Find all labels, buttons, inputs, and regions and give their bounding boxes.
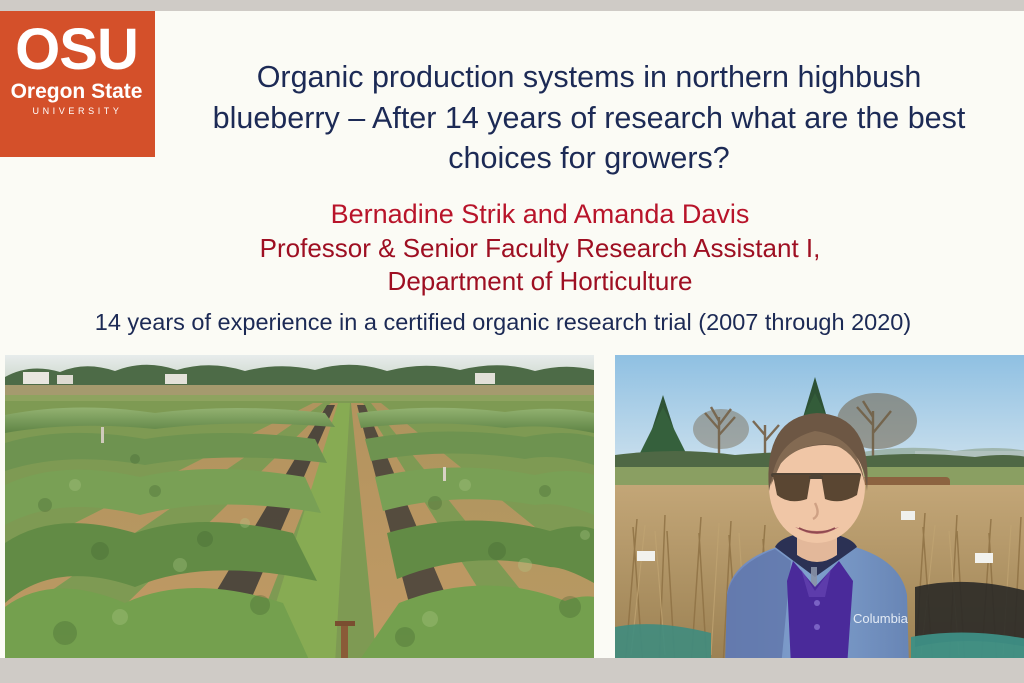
page-title: Organic production systems in northern h… — [160, 57, 1018, 179]
title-line-2: blueberry – After 14 years of research w… — [160, 98, 1018, 139]
author-names: Bernadine Strik and Amanda Davis — [110, 197, 970, 232]
osu-logo: OSU Oregon State UNIVERSITY — [0, 11, 155, 157]
photo-researcher: Columbia — [615, 355, 1024, 658]
osu-logo-sub: UNIVERSITY — [0, 106, 155, 116]
authors-block: Bernadine Strik and Amanda Davis Profess… — [110, 197, 970, 298]
title-line-1: Organic production systems in northern h… — [160, 57, 1018, 98]
viewer-bottom-band — [0, 658, 1024, 683]
affiliation-line-2: Department of Horticulture — [110, 265, 970, 298]
affiliation-line-1: Professor & Senior Faculty Research Assi… — [110, 232, 970, 265]
experience-subtitle: 14 years of experience in a certified or… — [0, 309, 1006, 336]
slide-canvas: OSU Oregon State UNIVERSITY Organic prod… — [0, 11, 1024, 658]
osu-logo-mark: OSU — [0, 22, 155, 77]
researcher-illustration: Columbia — [615, 355, 1024, 658]
osu-logo-org: Oregon State — [0, 80, 155, 103]
slide-viewer: OSU Oregon State UNIVERSITY Organic prod… — [0, 0, 1024, 683]
svg-text:Columbia: Columbia — [853, 611, 909, 626]
viewer-top-band — [0, 0, 1024, 11]
photo-blueberry-field — [5, 355, 594, 658]
title-line-3: choices for growers? — [160, 138, 1018, 179]
blueberry-field-illustration — [5, 355, 594, 658]
